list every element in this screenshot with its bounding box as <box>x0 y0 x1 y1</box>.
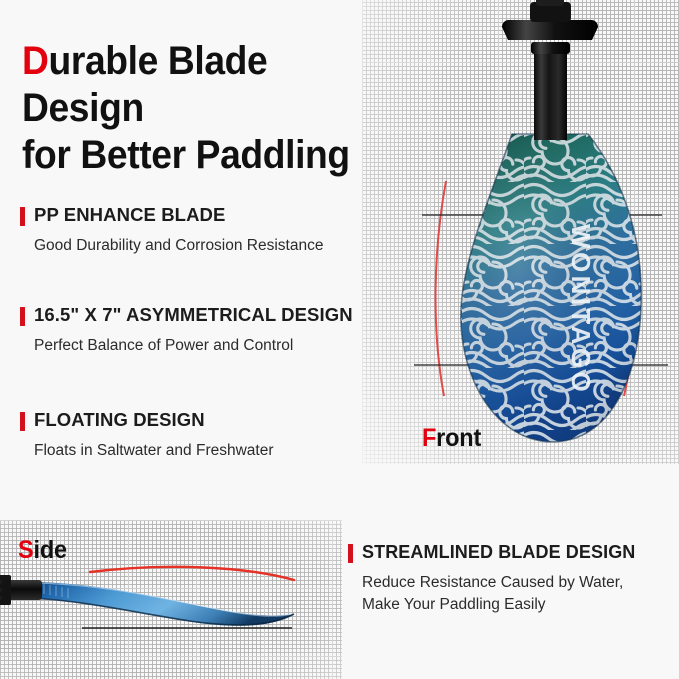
feature-heading-row: STREAMLINED BLADE DESIGN <box>348 542 678 563</box>
feature-heading-row: 16.5" X 7" ASYMMETRICAL DESIGN <box>20 305 420 326</box>
side-contour-guide <box>90 567 294 580</box>
bullet-marker-icon <box>20 207 25 226</box>
paddle-blade <box>440 116 670 466</box>
bullet-marker-icon <box>20 307 25 326</box>
feature-title: STREAMLINED BLADE DESIGN <box>362 542 635 562</box>
feature-item-streamlined-blade-design: STREAMLINED BLADE DESIGN Reduce Resistan… <box>348 542 678 616</box>
feature-heading-row: PP ENHANCE BLADE <box>20 205 420 226</box>
paddle-front-illustration: WONITAGO <box>400 0 679 466</box>
brand-label: WONITAGO <box>566 224 596 395</box>
shaft-flange <box>502 20 598 40</box>
feature-item-asymmetrical-design: 16.5" X 7" ASYMMETRICAL DESIGN Perfect B… <box>20 305 420 357</box>
side-label-rest: ide <box>33 536 66 564</box>
feature-title: 16.5" X 7" ASYMMETRICAL DESIGN <box>34 305 353 325</box>
paddle-side-illustration <box>0 556 344 666</box>
feature-item-floating-design: FLOATING DESIGN Floats in Saltwater and … <box>20 410 420 462</box>
feature-item-pp-enhance-blade: PP ENHANCE BLADE Good Durability and Cor… <box>20 205 420 257</box>
side-view-label: Side <box>18 536 67 565</box>
feature-title: PP ENHANCE BLADE <box>34 205 225 225</box>
front-label-rest: ront <box>436 424 481 452</box>
feature-heading-row: FLOATING DESIGN <box>20 410 420 431</box>
paddle-side-view <box>0 556 344 666</box>
feature-title: FLOATING DESIGN <box>34 410 205 430</box>
feature-subtitle: Good Durability and Corrosion Resistance <box>34 235 420 257</box>
page-title: Durable Blade Design for Better Paddling <box>22 38 385 179</box>
bullet-marker-icon <box>348 544 353 563</box>
side-label-cap: S <box>18 536 33 564</box>
feature-subtitle: Perfect Balance of Power and Control <box>34 335 420 357</box>
bullet-marker-icon <box>20 412 25 431</box>
paddle-shaft <box>502 0 598 140</box>
feature-subtitle: Floats in Saltwater and Freshwater <box>34 440 420 462</box>
paddle-front-view: WONITAGO <box>400 0 679 466</box>
infographic-canvas: Durable Blade Design for Better Paddling… <box>0 0 679 679</box>
title-rest: urable Blade Design for Better Paddling <box>22 39 350 177</box>
title-drop-cap: D <box>22 39 49 83</box>
front-view-label: Front <box>422 424 481 453</box>
feature-subtitle: Reduce Resistance Caused by Water, Make … <box>362 572 678 616</box>
measurement-arc-left <box>436 181 446 396</box>
front-label-cap: F <box>422 424 436 452</box>
